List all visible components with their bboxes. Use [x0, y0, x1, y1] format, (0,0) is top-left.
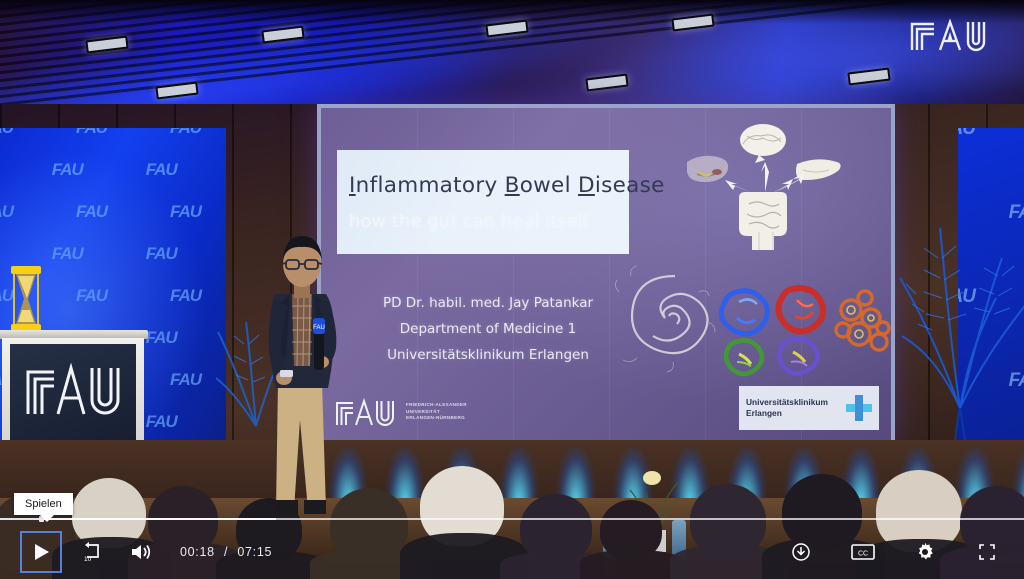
palm-plant-right — [898, 108, 1024, 478]
download-icon — [792, 543, 810, 561]
settings-button[interactable] — [910, 537, 940, 567]
presenter-institution: Universitätsklinikum Erlangen — [343, 342, 633, 368]
hourglass-icon — [10, 266, 42, 332]
intestine-icon — [739, 192, 787, 250]
player-controls: 10 00:18 / 07:15 — [0, 524, 1024, 579]
volume-button[interactable] — [126, 537, 156, 567]
green-organoid-micrograph — [726, 340, 762, 374]
swiss-roll-micrograph — [632, 276, 708, 353]
violet-organoid-micrograph — [779, 339, 817, 374]
stage-uplight — [387, 448, 423, 502]
total-time: 07:15 — [237, 545, 272, 559]
fau-backdrop-tile: FAU — [146, 328, 177, 348]
play-button[interactable] — [26, 537, 56, 567]
play-icon — [31, 542, 51, 562]
current-time: 00:18 — [180, 545, 215, 559]
fau-backdrop-tile: FAU — [0, 202, 13, 222]
slide-presenter-block: PD Dr. habil. med. Jay Patankar Departme… — [343, 290, 633, 368]
fau-backdrop-tile: FAU — [76, 202, 107, 222]
fau-watermark-logo — [906, 14, 1002, 54]
download-button[interactable] — [786, 537, 816, 567]
medical-cross-icon — [846, 395, 872, 421]
uk-logo-text: Universitätsklinikum Erlangen — [746, 397, 828, 419]
lectern-fau-logo — [22, 360, 124, 418]
video-player[interactable]: FAUFAUFAUFAUFAUFAUFAUFAUFAUFAUFAUFAUFAUF… — [0, 0, 1024, 579]
speaker-person: FAU — [252, 232, 362, 514]
presenter-name: PD Dr. habil. med. Jay Patankar — [343, 290, 633, 316]
red-organoid-micrograph — [778, 288, 823, 331]
projection-screen: Inflammatory Bowel Disease how the gut c… — [317, 104, 895, 444]
gear-icon — [915, 542, 935, 562]
fau-backdrop-tile: FAU — [76, 286, 107, 306]
slide-title: Inflammatory Bowel Disease — [349, 173, 629, 198]
player-controls-right: CC — [786, 537, 1024, 567]
slide-subtitle: how the gut can heal itself — [349, 211, 629, 232]
slide-title-box: Inflammatory Bowel Disease how the gut c… — [337, 150, 629, 254]
fau-backdrop-tile: FAU — [0, 128, 13, 138]
microphone-icon: FAU — [313, 318, 325, 370]
rewind-seconds-label: 10 — [84, 556, 92, 563]
play-button-tooltip: Spielen — [14, 493, 73, 515]
time-display: 00:18 / 07:15 — [180, 545, 272, 559]
volume-icon — [130, 542, 152, 562]
stage-uplight — [501, 448, 537, 502]
seek-bar-played — [0, 518, 41, 520]
fullscreen-button[interactable] — [972, 537, 1002, 567]
fau-backdrop-tile: FAU — [146, 412, 177, 432]
fullscreen-icon — [978, 543, 996, 561]
time-separator: / — [224, 545, 228, 559]
fau-backdrop-tile: FAU — [76, 128, 107, 138]
captions-label: CC — [858, 550, 868, 557]
fau-backdrop-tile: FAU — [146, 160, 177, 180]
fau-backdrop-tile: FAU — [170, 370, 201, 390]
slide-fau-logo-subtext: FRIEDRICH-ALEXANDER UNIVERSITÄT ERLANGEN… — [406, 402, 467, 421]
rewind-10-button[interactable]: 10 — [76, 537, 106, 567]
fau-backdrop-tile: FAU — [170, 202, 201, 222]
closed-captions-icon: CC — [851, 544, 875, 560]
player-controls-left: 10 00:18 / 07:15 — [0, 537, 272, 567]
captions-button[interactable]: CC — [848, 537, 878, 567]
fau-backdrop-tile: FAU — [170, 286, 201, 306]
blue-organoid-micrograph — [721, 291, 767, 334]
svg-text:FAU: FAU — [313, 325, 325, 331]
seek-bar[interactable] — [0, 514, 1024, 524]
rewind-10-icon: 10 — [80, 541, 102, 563]
slide-uk-erlangen-logo: Universitätsklinikum Erlangen — [739, 386, 879, 430]
arrow-icon — [725, 162, 805, 194]
video-frame: FAUFAUFAUFAUFAUFAUFAUFAUFAUFAUFAUFAUFAUF… — [0, 0, 1024, 579]
presenter-department: Department of Medicine 1 — [343, 316, 633, 342]
microscopy-panel — [603, 258, 891, 378]
brain-icon — [740, 124, 786, 163]
liver-icon — [687, 156, 728, 182]
gut-organ-axis-diagram — [673, 122, 853, 257]
fau-backdrop-tile: FAU — [170, 128, 201, 138]
ceiling — [0, 0, 1024, 108]
fau-backdrop-tile: FAU — [52, 244, 83, 264]
fau-backdrop-tile: FAU — [146, 244, 177, 264]
orange-tissue-cluster-micrograph — [836, 291, 889, 350]
fau-backdrop-tile: FAU — [52, 160, 83, 180]
presentation-slide: Inflammatory Bowel Disease how the gut c… — [321, 108, 891, 440]
